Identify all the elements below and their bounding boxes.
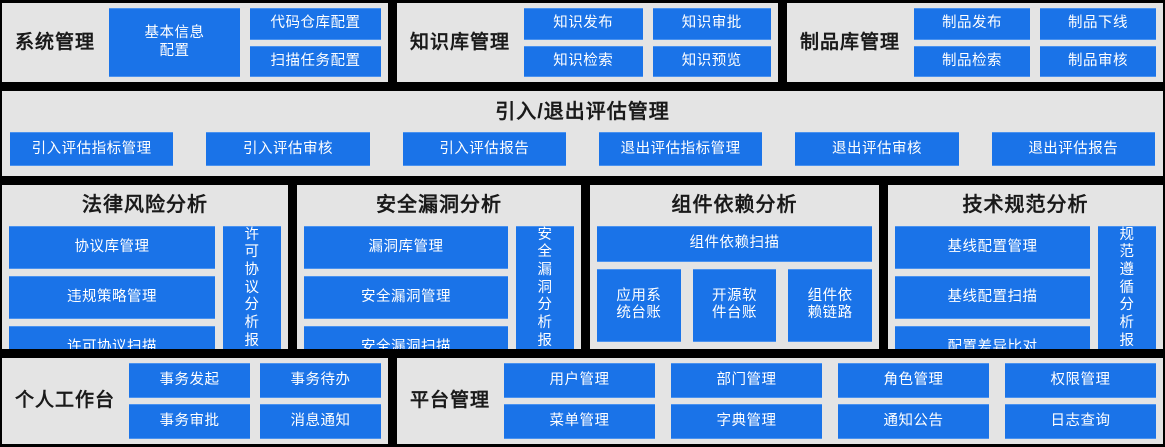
body-component-dependency-analysis: 组件依赖扫描 应用系 统台账 开源软 件台账 组件依 赖链路 (597, 224, 872, 342)
top-button-wrap-component-dependency: 组件依赖扫描 (597, 226, 872, 262)
button-grid-platform-management: 用户管理 部门管理 角色管理 权限管理 菜单管理 字典管理 通知公告 日志查询 (504, 363, 1156, 439)
vertical-button-wrap-legal: 许可协议分析报告 (223, 226, 281, 351)
button-baseline-config-scan[interactable]: 基线配置扫描 (895, 276, 1090, 319)
button-user-management[interactable]: 用户管理 (504, 363, 655, 398)
button-vuln-repo-management[interactable]: 漏洞库管理 (304, 226, 508, 269)
button-knowledge-publish[interactable]: 知识发布 (524, 8, 642, 40)
button-security-vuln-analysis-report-label: 安全漏洞分析报告 (538, 227, 553, 351)
button-exit-eval-report[interactable]: 退出评估报告 (992, 132, 1155, 166)
button-basic-info-config[interactable]: 基本信息 配置 (109, 8, 240, 77)
panel-knowledge-base-management: 知识库管理 知识发布 知识审批 知识检索 知识预览 (395, 1, 780, 84)
button-license-analysis-report-label: 许可协议分析报告 (245, 227, 260, 351)
button-config-diff-comparison[interactable]: 配置差异比对 (895, 326, 1090, 351)
panel-legal-risk-analysis: 法律风险分析 协议库管理 违规策略管理 许可协议扫描 许可协议分析报告 (0, 183, 290, 351)
panel-title-knowledge-base-management: 知识库管理 (404, 30, 516, 56)
button-artifact-search[interactable]: 制品检索 (914, 46, 1030, 78)
button-task-initiate[interactable]: 事务发起 (129, 363, 250, 398)
panel-title-technical-standard-analysis: 技术规范分析 (895, 190, 1156, 224)
panel-platform-management: 平台管理 用户管理 部门管理 角色管理 权限管理 菜单管理 字典管理 通知公告 … (395, 356, 1165, 446)
button-scan-task-config[interactable]: 扫描任务配置 (250, 46, 381, 78)
button-task-approval[interactable]: 事务审批 (129, 404, 250, 439)
panel-artifact-repo-management: 制品库管理 制品发布 制品下线 制品检索 制品审核 (785, 1, 1165, 84)
button-knowledge-approval[interactable]: 知识审批 (653, 8, 772, 40)
vertical-button-wrap-standard: 规范遵循分析报告 (1098, 226, 1156, 351)
body-security-vulnerability-analysis: 漏洞库管理 安全漏洞管理 安全漏洞扫描 安全漏洞分析报告 (304, 224, 574, 351)
panel-title-evaluation-management: 引入/退出评估管理 (2, 91, 1163, 126)
button-grid-personal-workbench: 事务发起 事务待办 事务审批 消息通知 (129, 363, 381, 439)
button-open-source-software-ledger[interactable]: 开源软 件台账 (693, 269, 777, 342)
button-grid-artifact-repo: 制品发布 制品下线 制品检索 制品审核 (914, 8, 1156, 77)
panel-technical-standard-analysis: 技术规范分析 基线配置管理 基线配置扫描 配置差异比对 规范遵循分析报告 (886, 183, 1165, 351)
row-system-knowledge-artifact: 系统管理 基本信息 配置 代码仓库配置 扫描任务配置 知识库管理 知识发布 知识… (0, 1, 1165, 84)
button-standard-compliance-analysis-report[interactable]: 规范遵循分析报告 (1098, 226, 1156, 351)
button-security-vuln-scan[interactable]: 安全漏洞扫描 (304, 326, 508, 351)
button-grid-knowledge-base: 知识发布 知识审批 知识检索 知识预览 (524, 8, 771, 77)
row-evaluation-management: 引入/退出评估管理 引入评估指标管理 引入评估审核 引入评估报告 退出评估指标管… (0, 89, 1165, 177)
button-exit-eval-review[interactable]: 退出评估审核 (795, 132, 958, 166)
button-intro-eval-review[interactable]: 引入评估审核 (206, 132, 369, 166)
panel-title-component-dependency-analysis: 组件依赖分析 (597, 190, 872, 224)
dashboard-root: 系统管理 基本信息 配置 代码仓库配置 扫描任务配置 知识库管理 知识发布 知识… (0, 0, 1165, 447)
button-role-management[interactable]: 角色管理 (838, 363, 989, 398)
button-code-repo-config[interactable]: 代码仓库配置 (250, 8, 381, 40)
button-artifact-audit[interactable]: 制品审核 (1040, 46, 1156, 78)
panel-evaluation-management: 引入/退出评估管理 引入评估指标管理 引入评估审核 引入评估报告 退出评估指标管… (0, 89, 1165, 177)
body-technical-standard-analysis: 基线配置管理 基线配置扫描 配置差异比对 规范遵循分析报告 (895, 224, 1156, 351)
button-license-analysis-report[interactable]: 许可协议分析报告 (223, 226, 281, 351)
button-exit-eval-indicator-management[interactable]: 退出评估指标管理 (599, 132, 762, 166)
panel-title-legal-risk-analysis: 法律风险分析 (9, 190, 281, 224)
body-legal-risk-analysis: 协议库管理 违规策略管理 许可协议扫描 许可协议分析报告 (9, 224, 281, 351)
button-knowledge-search[interactable]: 知识检索 (524, 46, 642, 78)
panel-personal-workbench: 个人工作台 事务发起 事务待办 事务审批 消息通知 (0, 356, 390, 446)
panel-title-platform-management: 平台管理 (404, 388, 496, 414)
panel-security-vulnerability-analysis: 安全漏洞分析 漏洞库管理 安全漏洞管理 安全漏洞扫描 安全漏洞分析报告 (295, 183, 583, 351)
button-knowledge-preview[interactable]: 知识预览 (653, 46, 772, 78)
button-baseline-config-management[interactable]: 基线配置管理 (895, 226, 1090, 269)
button-menu-management[interactable]: 菜单管理 (504, 404, 655, 439)
panel-title-artifact-repo-management: 制品库管理 (794, 30, 906, 56)
button-permission-management[interactable]: 权限管理 (1005, 363, 1156, 398)
button-log-query[interactable]: 日志查询 (1005, 404, 1156, 439)
button-dictionary-management[interactable]: 字典管理 (671, 404, 822, 439)
button-artifact-offline[interactable]: 制品下线 (1040, 8, 1156, 40)
row-analysis-panels: 法律风险分析 协议库管理 违规策略管理 许可协议扫描 许可协议分析报告 安全漏洞… (0, 183, 1165, 351)
button-security-vuln-management[interactable]: 安全漏洞管理 (304, 276, 508, 319)
button-task-todo[interactable]: 事务待办 (260, 363, 381, 398)
button-intro-eval-report[interactable]: 引入评估报告 (403, 132, 566, 166)
button-stack-legal-risk: 协议库管理 违规策略管理 许可协议扫描 (9, 226, 215, 351)
button-artifact-publish[interactable]: 制品发布 (914, 8, 1030, 40)
button-department-management[interactable]: 部门管理 (671, 363, 822, 398)
button-stack-technical-standard: 基线配置管理 基线配置扫描 配置差异比对 (895, 226, 1090, 351)
button-license-agreement-scan[interactable]: 许可协议扫描 (9, 326, 215, 351)
button-standard-compliance-analysis-report-label: 规范遵循分析报告 (1120, 227, 1135, 351)
button-notice-announcement[interactable]: 通知公告 (838, 404, 989, 439)
panel-title-personal-workbench: 个人工作台 (9, 388, 121, 414)
button-component-dependency-scan[interactable]: 组件依赖扫描 (597, 226, 872, 262)
button-violation-policy-management[interactable]: 违规策略管理 (9, 276, 215, 319)
button-application-system-ledger[interactable]: 应用系 统台账 (597, 269, 681, 342)
button-security-vuln-analysis-report[interactable]: 安全漏洞分析报告 (516, 226, 574, 351)
button-intro-eval-indicator-management[interactable]: 引入评估指标管理 (10, 132, 173, 166)
panel-component-dependency-analysis: 组件依赖分析 组件依赖扫描 应用系 统台账 开源软 件台账 组件依 赖链路 (588, 183, 881, 351)
button-grid-system-management: 基本信息 配置 代码仓库配置 扫描任务配置 (109, 8, 381, 77)
vertical-button-wrap-security: 安全漏洞分析报告 (516, 226, 574, 351)
button-message-notification[interactable]: 消息通知 (260, 404, 381, 439)
button-row-evaluation: 引入评估指标管理 引入评估审核 引入评估报告 退出评估指标管理 退出评估审核 退… (2, 126, 1163, 166)
panel-title-security-vulnerability-analysis: 安全漏洞分析 (304, 190, 574, 224)
row-workbench-platform: 个人工作台 事务发起 事务待办 事务审批 消息通知 平台管理 用户管理 部门管理… (0, 356, 1165, 446)
button-license-repo-management[interactable]: 协议库管理 (9, 226, 215, 269)
panel-system-management: 系统管理 基本信息 配置 代码仓库配置 扫描任务配置 (0, 1, 390, 84)
button-component-dependency-chain[interactable]: 组件依 赖链路 (788, 269, 872, 342)
button-stack-security-vuln: 漏洞库管理 安全漏洞管理 安全漏洞扫描 (304, 226, 508, 351)
panel-title-system-management: 系统管理 (9, 30, 101, 56)
button-grid-component-dependency: 应用系 统台账 开源软 件台账 组件依 赖链路 (597, 269, 872, 342)
